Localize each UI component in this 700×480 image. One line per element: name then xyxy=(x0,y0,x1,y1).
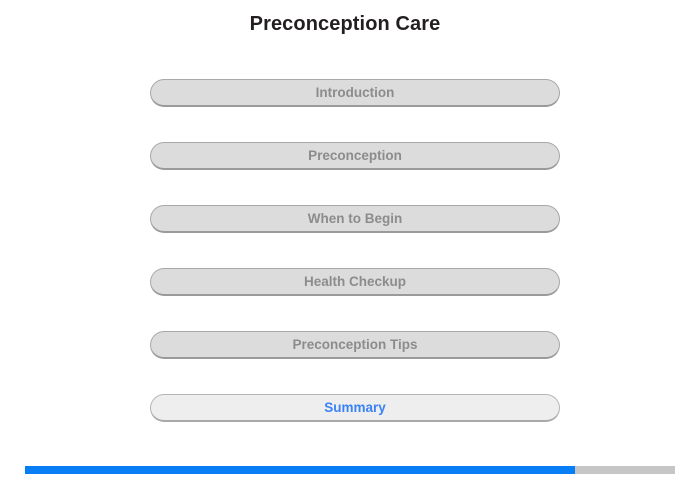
menu-item-label: Preconception Tips xyxy=(151,332,559,357)
menu-item-health-checkup[interactable]: Health Checkup xyxy=(150,268,560,296)
progress-bar[interactable] xyxy=(25,466,675,474)
progress-bar-fill xyxy=(25,466,575,474)
menu-item-introduction[interactable]: Introduction xyxy=(150,79,560,107)
menu-item-label: Health Checkup xyxy=(151,269,559,294)
navigation-menu: Introduction Preconception When to Begin… xyxy=(150,79,560,422)
menu-item-when-to-begin[interactable]: When to Begin xyxy=(150,205,560,233)
menu-item-preconception[interactable]: Preconception xyxy=(150,142,560,170)
menu-item-label: When to Begin xyxy=(151,206,559,231)
page-title: Preconception Care xyxy=(0,10,690,38)
menu-item-label: Introduction xyxy=(151,80,559,105)
menu-item-preconception-tips[interactable]: Preconception Tips xyxy=(150,331,560,359)
slide-canvas: Preconception Care Introduction Preconce… xyxy=(0,0,700,480)
menu-item-summary[interactable]: Summary xyxy=(150,394,560,422)
menu-item-label: Summary xyxy=(151,395,559,420)
menu-item-label: Preconception xyxy=(151,143,559,168)
